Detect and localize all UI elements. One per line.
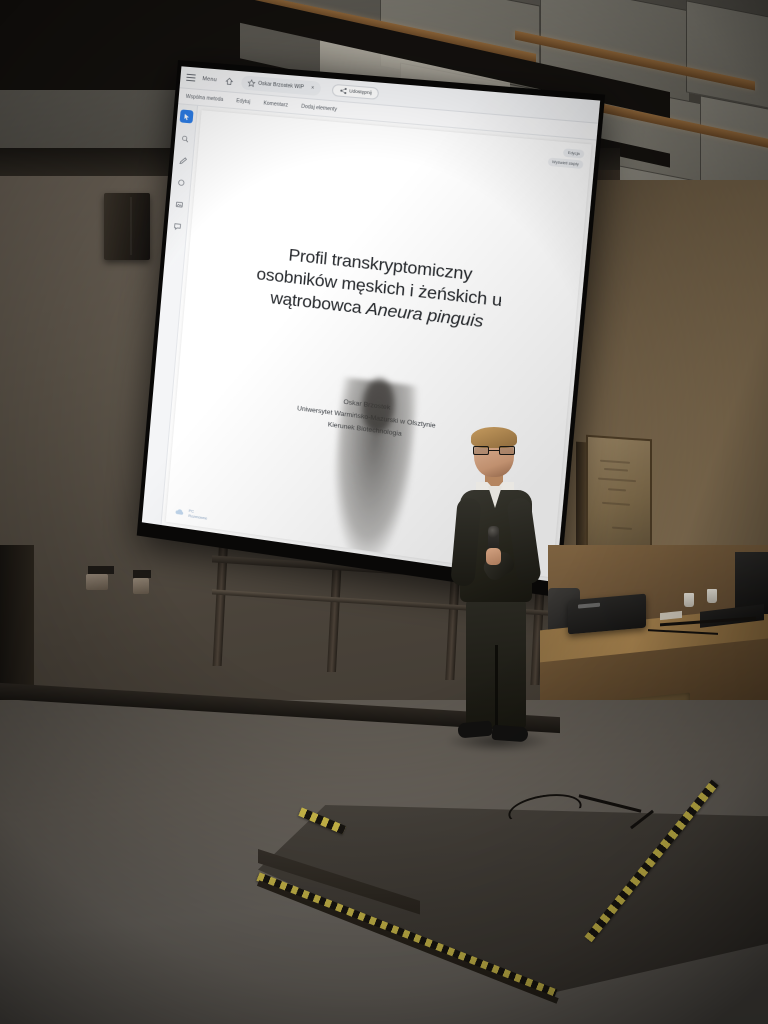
image-tool[interactable]	[172, 197, 186, 211]
close-icon[interactable]: ×	[311, 85, 315, 91]
cloud-logo-icon	[174, 507, 186, 517]
slide-logo: PC Rozmowne	[174, 507, 208, 521]
slide-view-controls[interactable]: Edycja Wyświetl slajdy	[547, 147, 584, 169]
menu-edytuj[interactable]: Edytuj	[236, 98, 251, 105]
stage-surface	[258, 805, 768, 995]
home-icon[interactable]	[223, 75, 234, 86]
lecture-hall-scene: Menu Oskar Brzostek WIP × Udostępnij	[0, 0, 768, 1024]
zoom-tool[interactable]	[178, 131, 192, 145]
star-icon	[247, 78, 256, 87]
presenter-shoe-right	[492, 725, 529, 742]
presenter	[440, 430, 550, 760]
slide-present-label: Wyświetl slajdy	[552, 160, 579, 167]
menu-dodaj-elementy[interactable]: Dodaj elementy	[301, 103, 337, 112]
hamburger-icon[interactable]	[186, 74, 196, 82]
pen-tool[interactable]	[176, 153, 190, 167]
presenter-shoe-left	[457, 721, 492, 739]
presenter-hand	[486, 548, 501, 565]
tab-label: Oskar Brzostek WIP	[258, 80, 304, 90]
projector-device	[568, 594, 646, 635]
document-tab[interactable]: Oskar Brzostek WIP ×	[240, 75, 321, 96]
paper-cup	[707, 589, 717, 603]
shape-tool[interactable]	[174, 175, 188, 189]
eyeglasses-icon	[473, 446, 515, 455]
slide-edit-label: Edycja	[568, 151, 580, 156]
share-button[interactable]: Udostępnij	[331, 83, 380, 99]
presenter-leg-split	[495, 645, 498, 729]
wall-outlet[interactable]	[86, 574, 108, 590]
wall-outlet[interactable]	[133, 578, 149, 594]
paper-cup	[684, 593, 694, 607]
menu-komentarz[interactable]: Komentarz	[263, 100, 288, 108]
slide-title: Profil transkryptomiczny osobników męski…	[215, 237, 547, 340]
share-label: Udostępnij	[349, 88, 372, 95]
slide-edit-chip[interactable]: Edycja	[563, 148, 584, 158]
comment-tool[interactable]	[170, 219, 184, 233]
menu-label[interactable]: Menu	[202, 76, 217, 83]
menu-wspolna-metoda[interactable]: Wspólna metoda	[186, 93, 224, 102]
slide-present-chip[interactable]: Wyświetl slajdy	[547, 157, 583, 169]
low-stage-platform	[258, 805, 768, 995]
wall-speaker-icon	[104, 193, 150, 260]
whiteboard	[586, 435, 652, 562]
presenter-hair	[471, 427, 517, 448]
wall-outlet-cover	[133, 570, 151, 578]
wall-outlet-cover	[88, 566, 114, 574]
select-tool[interactable]	[180, 109, 194, 123]
share-icon	[338, 86, 347, 95]
